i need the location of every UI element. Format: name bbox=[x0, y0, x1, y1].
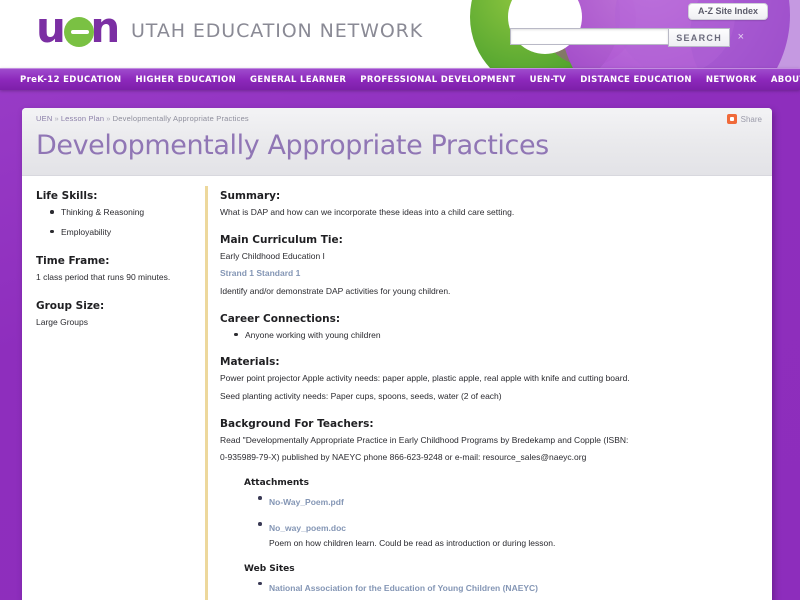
attachments-heading: Attachments bbox=[220, 478, 752, 488]
share-button[interactable]: Share bbox=[727, 114, 762, 124]
nav-item-about-uen[interactable]: ABOUT UEN bbox=[771, 75, 800, 85]
group-size-value: Large Groups bbox=[36, 316, 191, 329]
list-item: No-Way_Poem.pdf bbox=[258, 492, 752, 510]
list-item: National Association for the Education o… bbox=[258, 578, 752, 600]
nav-item-higher-education[interactable]: HIGHER EDUCATION bbox=[136, 75, 237, 85]
time-frame-value: 1 class period that runs 90 minutes. bbox=[36, 271, 191, 284]
materials-heading: Materials: bbox=[220, 356, 752, 368]
breadcrumb-separator: » bbox=[54, 114, 58, 123]
attachments-list: No-Way_Poem.pdf No_way_poem.doc Poem on … bbox=[220, 492, 752, 550]
career-connections-heading: Career Connections: bbox=[220, 313, 752, 325]
lesson-plan-card: UEN»Lesson Plan»Developmentally Appropri… bbox=[22, 108, 772, 600]
life-skills-list: Thinking & Reasoning Employability bbox=[36, 206, 191, 239]
attachment-description: Poem on how children learn. Could be rea… bbox=[269, 537, 752, 550]
web-sites-list: National Association for the Education o… bbox=[220, 578, 752, 600]
summary-text: What is DAP and how can we incorporate t… bbox=[220, 206, 752, 219]
share-icon bbox=[727, 114, 737, 124]
a-z-site-index-button[interactable]: A-Z Site Index bbox=[688, 3, 768, 20]
breadcrumb-separator: » bbox=[106, 114, 110, 123]
nav-item-prek12[interactable]: PreK-12 EDUCATION bbox=[20, 75, 122, 85]
attachment-link-doc[interactable]: No_way_poem.doc bbox=[269, 523, 346, 533]
site-wordmark: UTAH EDUCATION NETWORK bbox=[131, 20, 423, 42]
nav-item-distance-education[interactable]: DISTANCE EDUCATION bbox=[580, 75, 692, 85]
breadcrumb-item-current: Developmentally Appropriate Practices bbox=[113, 114, 249, 123]
uen-logo[interactable]: uen bbox=[36, 6, 120, 50]
breadcrumb-item-lesson-plan[interactable]: Lesson Plan bbox=[61, 114, 104, 123]
breadcrumb-item-uen[interactable]: UEN bbox=[36, 114, 52, 123]
nav-item-uen-tv[interactable]: UEN-TV bbox=[530, 75, 567, 85]
page-title: Developmentally Appropriate Practices bbox=[36, 130, 758, 161]
background-line-1: Read "Developmentally Appropriate Practi… bbox=[220, 434, 752, 447]
summary-heading: Summary: bbox=[220, 190, 752, 202]
curriculum-standard-link-wrap: Strand 1 Standard 1 bbox=[220, 267, 752, 280]
search-button[interactable]: SEARCH bbox=[668, 28, 730, 47]
list-item: Anyone working with young children bbox=[234, 329, 752, 342]
background-for-teachers-heading: Background For Teachers: bbox=[220, 418, 752, 430]
background-line-2: 0-935989-79-X) published by NAEYC phone … bbox=[220, 451, 752, 464]
share-label: Share bbox=[741, 115, 762, 124]
site-header: uen UTAH EDUCATION NETWORK A-Z Site Inde… bbox=[0, 0, 800, 68]
uen-logo-green-e-icon bbox=[64, 17, 94, 47]
materials-line-1: Power point projector Apple activity nee… bbox=[220, 372, 752, 385]
time-frame-heading: Time Frame: bbox=[36, 255, 191, 267]
lesson-meta-sidebar: Life Skills: Thinking & Reasoning Employ… bbox=[22, 190, 205, 600]
group-size-heading: Group Size: bbox=[36, 300, 191, 312]
website-link-naeyc[interactable]: National Association for the Education o… bbox=[269, 583, 538, 593]
life-skills-heading: Life Skills: bbox=[36, 190, 191, 202]
search-input[interactable] bbox=[510, 28, 668, 45]
curriculum-standard-text: Identify and/or demonstrate DAP activiti… bbox=[220, 285, 752, 298]
search-close-icon[interactable]: × bbox=[738, 30, 744, 44]
nav-item-professional-development[interactable]: PROFESSIONAL DEVELOPMENT bbox=[360, 75, 515, 85]
attachment-link-pdf[interactable]: No-Way_Poem.pdf bbox=[269, 497, 344, 507]
breadcrumb: UEN»Lesson Plan»Developmentally Appropri… bbox=[36, 114, 758, 123]
list-item: Employability bbox=[50, 226, 191, 239]
card-header: UEN»Lesson Plan»Developmentally Appropri… bbox=[22, 108, 772, 176]
nav-item-general-learner[interactable]: GENERAL LEARNER bbox=[250, 75, 346, 85]
career-connections-list: Anyone working with young children bbox=[220, 329, 752, 342]
lesson-content: Summary: What is DAP and how can we inco… bbox=[208, 190, 772, 600]
curriculum-tie-heading: Main Curriculum Tie: bbox=[220, 234, 752, 246]
card-body: Life Skills: Thinking & Reasoning Employ… bbox=[22, 176, 772, 600]
nav-item-network[interactable]: NETWORK bbox=[706, 75, 757, 85]
list-item: No_way_poem.doc Poem on how children lea… bbox=[258, 518, 752, 550]
search-form[interactable]: SEARCH bbox=[510, 28, 730, 47]
main-navigation: PreK-12 EDUCATION HIGHER EDUCATION GENER… bbox=[0, 68, 800, 90]
list-item: Thinking & Reasoning bbox=[50, 206, 191, 219]
curriculum-standard-link[interactable]: Strand 1 Standard 1 bbox=[220, 268, 300, 278]
web-sites-heading: Web Sites bbox=[220, 564, 752, 574]
materials-line-2: Seed planting activity needs: Paper cups… bbox=[220, 390, 752, 403]
curriculum-course: Early Childhood Education I bbox=[220, 250, 752, 263]
